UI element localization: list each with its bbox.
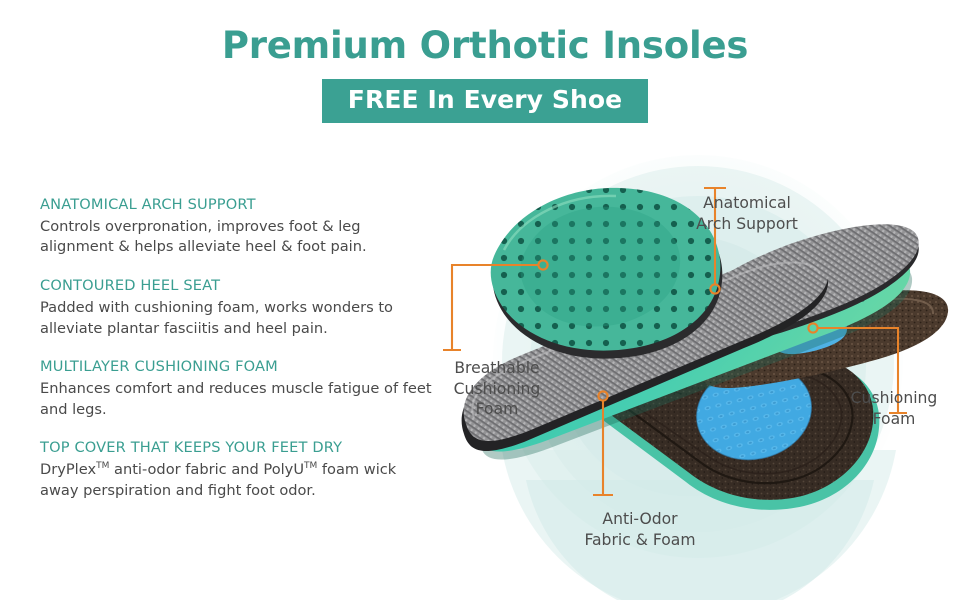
callout-anatomical-arch-support: Anatomical Arch Support bbox=[672, 193, 822, 234]
callout-cushioning-foam: Cushioning Foam bbox=[828, 388, 960, 429]
feature-title: CONTOURED HEEL SEAT bbox=[40, 277, 435, 296]
callout-breathable-cushioning-foam: Breathable Cushioning Foam bbox=[432, 358, 562, 420]
trademark-symbol: TM bbox=[96, 461, 109, 471]
feature-title: MULTILAYER CUSHIONING FOAM bbox=[40, 358, 435, 377]
feature-body: Padded with cushioning foam, works wonde… bbox=[40, 298, 435, 339]
feature-list: ANATOMICAL ARCH SUPPORT Controls overpro… bbox=[40, 196, 435, 501]
dryplex-text: DryPlex bbox=[40, 461, 96, 478]
page-title: Premium Orthotic Insoles bbox=[0, 26, 970, 67]
feature-title: ANATOMICAL ARCH SUPPORT bbox=[40, 196, 435, 215]
promo-page: Premium Orthotic Insoles FREE In Every S… bbox=[0, 0, 970, 600]
trademark-symbol: TM bbox=[304, 461, 317, 471]
feature-title: TOP COVER THAT KEEPS YOUR FEET DRY bbox=[40, 439, 435, 458]
feature-contoured-heel-seat: CONTOURED HEEL SEAT Padded with cushioni… bbox=[40, 277, 435, 339]
callout-anti-odor-fabric-and-foam: Anti-Odor Fabric & Foam bbox=[545, 509, 735, 550]
insole-illustration: Anatomical Arch Support Breathable Cushi… bbox=[430, 150, 970, 600]
free-in-every-shoe-banner: FREE In Every Shoe bbox=[322, 79, 648, 124]
feature-anatomical-arch-support: ANATOMICAL ARCH SUPPORT Controls overpro… bbox=[40, 196, 435, 258]
feature-body: DryPlexTM anti-odor fabric and PolyUTM f… bbox=[40, 460, 435, 501]
feature-body-mid: anti-odor fabric and PolyU bbox=[109, 461, 304, 478]
feature-top-cover-keeps-feet-dry: TOP COVER THAT KEEPS YOUR FEET DRY DryPl… bbox=[40, 439, 435, 501]
feature-body: Controls overpronation, improves foot & … bbox=[40, 217, 435, 258]
feature-multilayer-cushioning-foam: MULTILAYER CUSHIONING FOAM Enhances comf… bbox=[40, 358, 435, 420]
feature-body: Enhances comfort and reduces muscle fati… bbox=[40, 379, 435, 420]
header: Premium Orthotic Insoles FREE In Every S… bbox=[0, 0, 970, 123]
banner-wrap: FREE In Every Shoe bbox=[0, 79, 970, 124]
